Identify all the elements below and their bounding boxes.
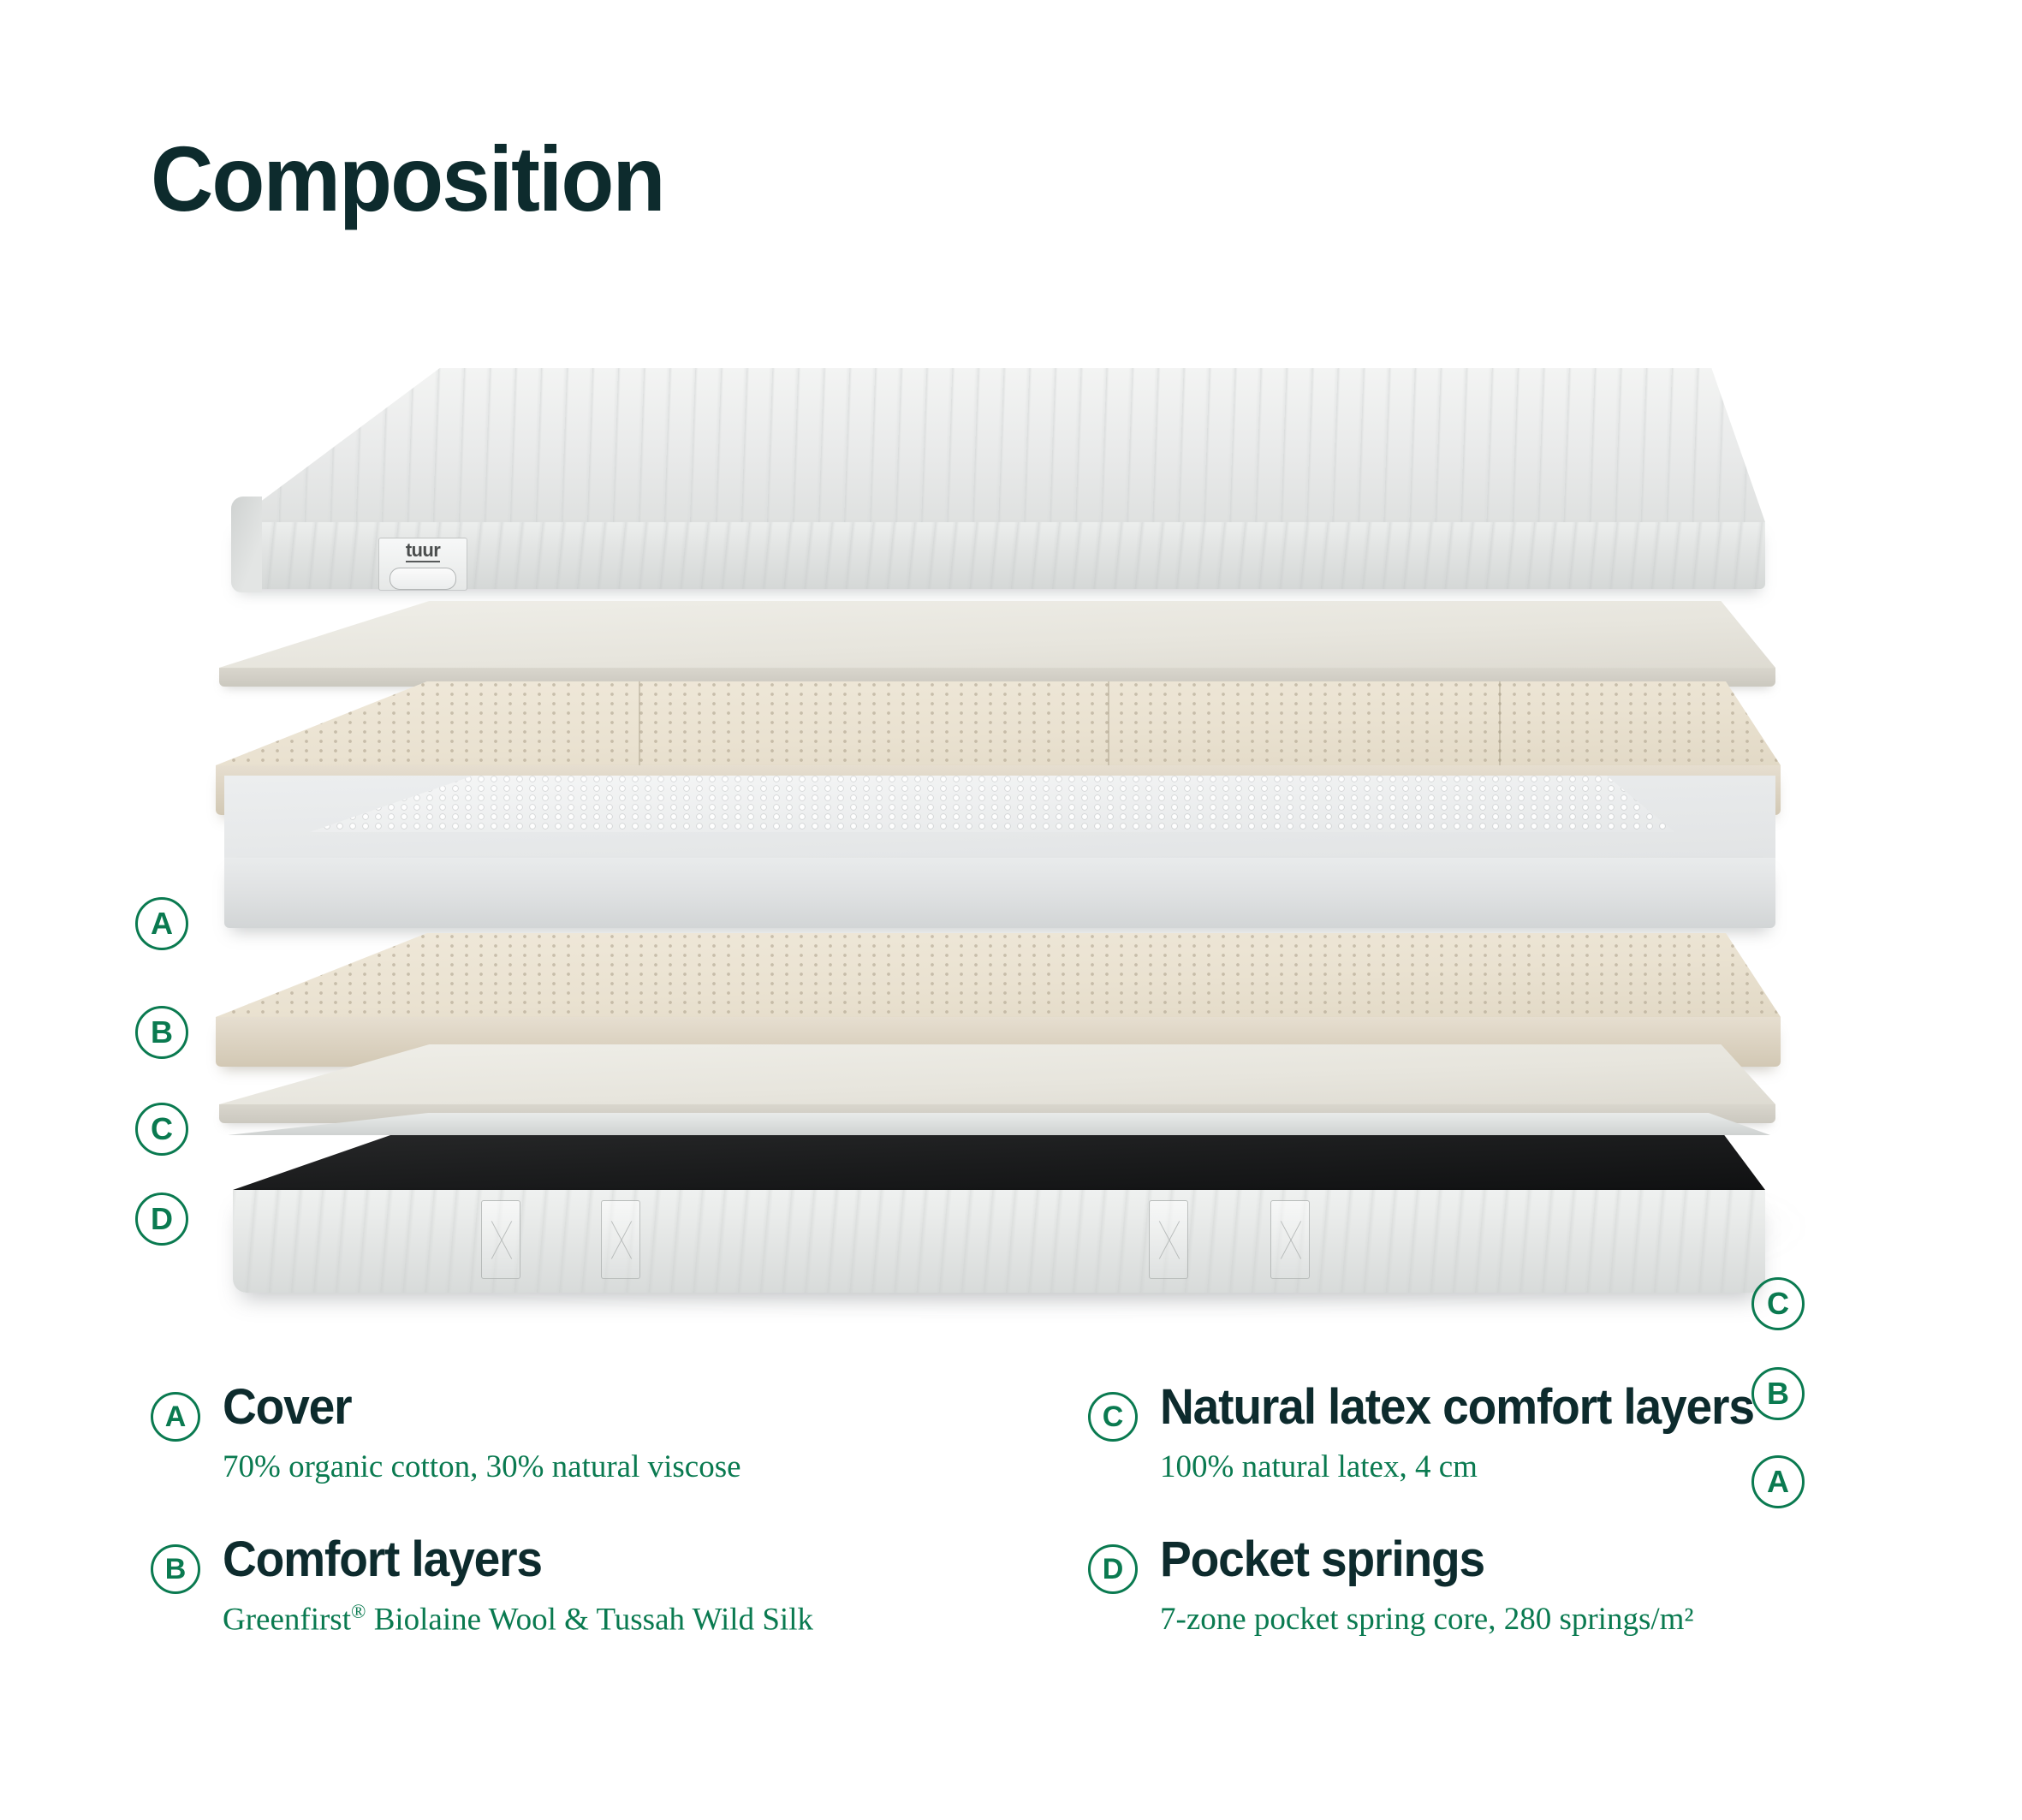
layer-cover-bottom bbox=[233, 1118, 1765, 1190]
legend-title-springs: Pocket springs bbox=[1160, 1532, 1667, 1588]
diagram-marker-a-left: A bbox=[135, 897, 188, 950]
legend-subtitle-comfort: Greenfirst® Biolaine Wool & Tussah Wild … bbox=[223, 1600, 813, 1640]
layer-comfort-top bbox=[219, 601, 1775, 668]
legend-subtitle-latex: 100% natural latex, 4 cm bbox=[1160, 1448, 1785, 1487]
brand-name: tuur bbox=[406, 541, 440, 562]
diagram-marker-c-right: C bbox=[1751, 1277, 1805, 1330]
carry-handle-icon bbox=[1270, 1200, 1310, 1279]
legend-subtitle-cover: 70% organic cotton, 30% natural viscose bbox=[223, 1448, 741, 1487]
composition-infographic: Composition tuur bbox=[0, 0, 2022, 1820]
latex-bottom-surface bbox=[216, 933, 1781, 1017]
legend-item-comfort: B Comfort layers Greenfirst® Biolaine Wo… bbox=[151, 1532, 1088, 1662]
diagram-marker-c-left: C bbox=[135, 1103, 188, 1156]
diagram-marker-d-left: D bbox=[135, 1193, 188, 1246]
greenfirst-word: Greenfirst bbox=[223, 1602, 351, 1637]
diagram-marker-b-left: B bbox=[135, 1006, 188, 1059]
legend-item-cover: A Cover 70% organic cotton, 30% natural … bbox=[151, 1380, 1088, 1510]
mattress-layer-diagram: tuur bbox=[0, 368, 2022, 1293]
brand-tag: tuur bbox=[378, 538, 467, 591]
legend-badge-a: A bbox=[151, 1392, 200, 1442]
layer-latex-top bbox=[216, 681, 1781, 765]
brand-tag-strip bbox=[390, 568, 456, 590]
legend-title-latex: Natural latex comfort layers bbox=[1160, 1380, 1754, 1436]
pocket-spring-surface bbox=[310, 776, 1675, 832]
legend-title-comfort: Comfort layers bbox=[223, 1532, 783, 1588]
cover-top-surface bbox=[233, 368, 1765, 522]
layer-comfort-bottom bbox=[219, 1044, 1775, 1104]
legend-subtitle-springs: 7-zone pocket spring core, 280 springs/m… bbox=[1160, 1600, 1694, 1639]
registered-mark: ® bbox=[351, 1601, 366, 1622]
cover-bottom-rim bbox=[228, 1113, 1770, 1135]
spring-core-edge bbox=[224, 858, 1775, 928]
comfort-top-surface bbox=[219, 601, 1775, 668]
legend-title-cover: Cover bbox=[223, 1380, 715, 1436]
layer-pocket-springs bbox=[224, 776, 1775, 858]
page-title: Composition bbox=[151, 130, 664, 227]
layer-cover-top: tuur bbox=[233, 368, 1765, 522]
carry-handle-icon bbox=[481, 1200, 520, 1279]
legend-badge-d: D bbox=[1088, 1544, 1138, 1594]
legend-item-springs: D Pocket springs 7-zone pocket spring co… bbox=[1088, 1532, 1914, 1662]
comfort-materials: Biolaine Wool & Tussah Wild Silk bbox=[366, 1602, 813, 1637]
carry-handle-icon bbox=[1149, 1200, 1188, 1279]
cover-bottom-edge bbox=[233, 1190, 1765, 1293]
legend-badge-b: B bbox=[151, 1544, 200, 1594]
cover-top-left-cap bbox=[231, 497, 262, 592]
comfort-bottom-surface bbox=[219, 1044, 1775, 1104]
layer-latex-bottom bbox=[216, 933, 1781, 1017]
legend: A Cover 70% organic cotton, 30% natural … bbox=[151, 1380, 1914, 1662]
legend-item-latex: C Natural latex comfort layers 100% natu… bbox=[1088, 1380, 1914, 1510]
latex-top-surface bbox=[216, 681, 1781, 765]
legend-badge-c: C bbox=[1088, 1392, 1138, 1442]
carry-handle-icon bbox=[601, 1200, 640, 1279]
